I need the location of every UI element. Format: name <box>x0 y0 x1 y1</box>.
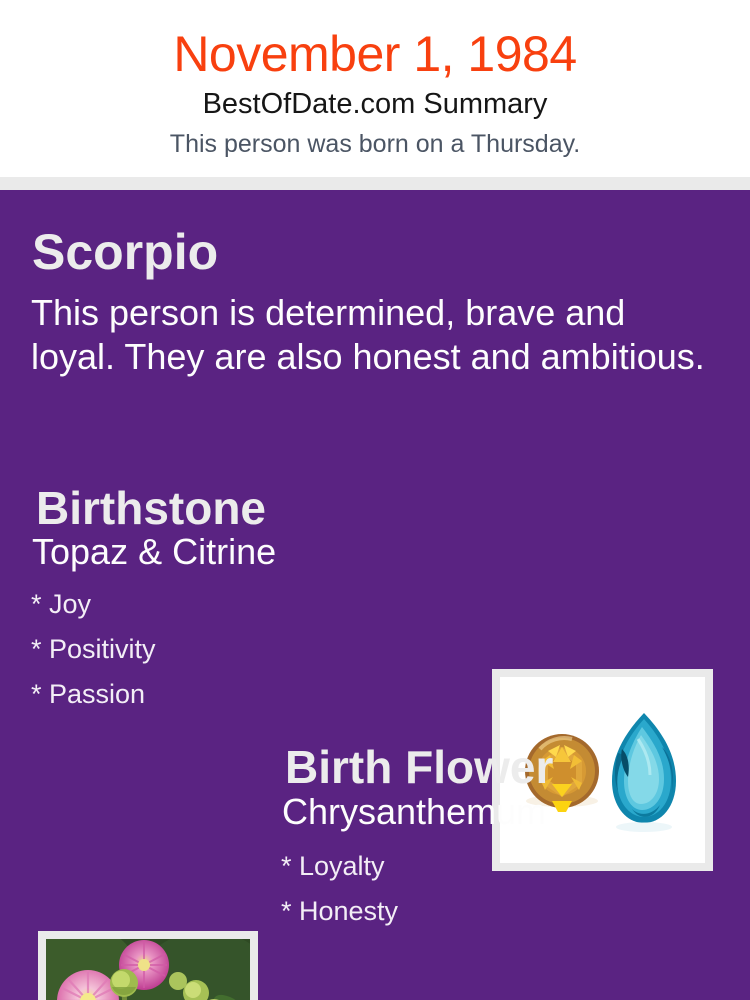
summary-panel: Scorpio This person is determined, brave… <box>0 190 750 1000</box>
date-summary-card: November 1, 1984 BestOfDate.com Summary … <box>0 0 750 1000</box>
chrysanthemum-illustration <box>46 939 250 1000</box>
birth-flower-image <box>46 939 250 1000</box>
birth-flower-traits-list: * Loyalty * Honesty <box>281 844 398 934</box>
list-item: * Loyalty <box>281 844 398 889</box>
zodiac-sign-heading: Scorpio <box>32 223 218 281</box>
birth-flower-name: Chrysanthemum <box>282 790 546 834</box>
birthstone-name: Topaz & Citrine <box>32 530 276 574</box>
list-item: * Honesty <box>281 889 398 934</box>
birth-flower-heading: Birth Flower <box>285 740 553 794</box>
site-name-subtitle: BestOfDate.com Summary <box>0 86 750 122</box>
birthstone-heading: Birthstone <box>36 481 266 535</box>
list-item: * Positivity <box>31 627 156 672</box>
zodiac-description: This person is determined, brave and loy… <box>31 291 711 379</box>
birth-weekday-note: This person was born on a Thursday. <box>0 128 750 160</box>
list-item: * Passion <box>31 672 156 717</box>
list-item: * Joy <box>31 582 156 627</box>
card-header: November 1, 1984 BestOfDate.com Summary … <box>0 0 750 177</box>
header-divider <box>0 177 750 190</box>
birth-flower-image-frame <box>38 931 258 1000</box>
birthstone-traits-list: * Joy * Positivity * Passion <box>31 582 156 717</box>
page-title-date: November 1, 1984 <box>0 24 750 84</box>
